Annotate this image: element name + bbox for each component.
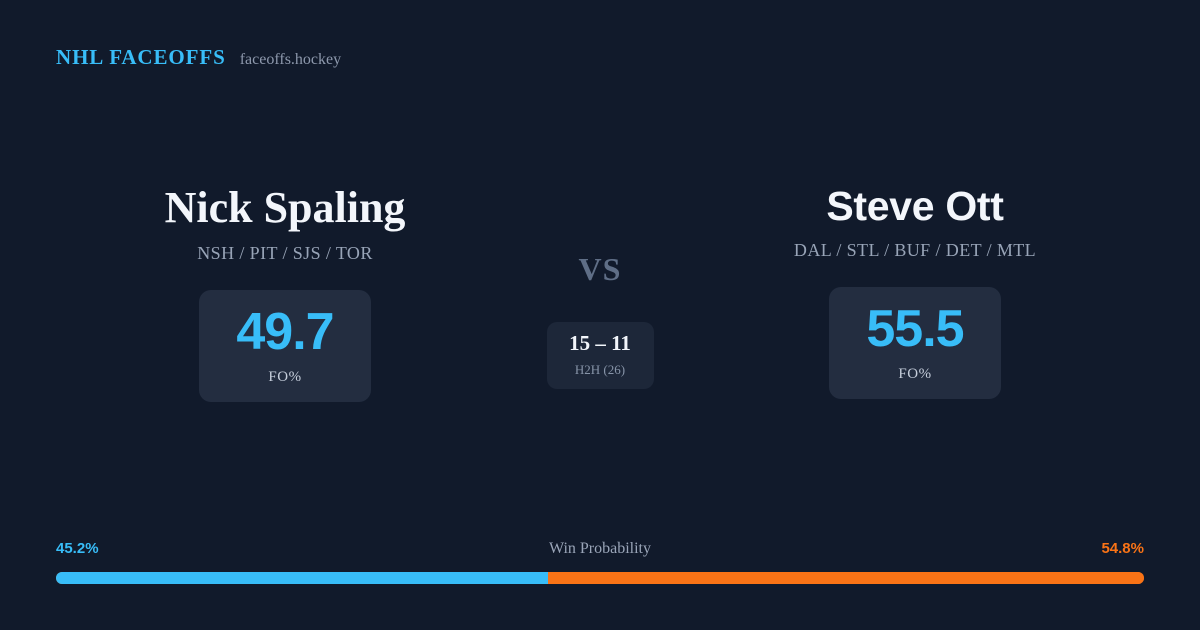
win-probability-labels: 45.2% Win Probability 54.8% [56,540,1144,560]
matchup-section: Nick Spaling NSH / PIT / SJS / TOR 49.7 … [0,185,1200,402]
player-name-right: Steve Ott [826,185,1003,228]
site-header: NHL FACEOFFS faceoffs.hockey [56,47,341,68]
stat-label-left: FO% [268,369,301,386]
stat-value-right: 55.5 [866,303,963,355]
win-probability-title: Win Probability [549,540,651,558]
head-to-head-score: 15 – 11 [569,333,631,354]
win-probability-bar [56,572,1144,584]
win-probability-bar-left [56,572,548,584]
player-teams-right: DAL / STL / BUF / DET / MTL [794,240,1036,261]
player-teams-left: NSH / PIT / SJS / TOR [197,243,372,264]
player-card-right: Steve Ott DAL / STL / BUF / DET / MTL 55… [700,185,1130,399]
win-probability-section: 45.2% Win Probability 54.8% [56,540,1144,584]
head-to-head-card: 15 – 11 H2H (26) [547,322,654,389]
stat-card-left: 49.7 FO% [199,290,371,402]
win-probability-right-value: 54.8% [1101,540,1144,557]
brand-domain: faceoffs.hockey [240,52,341,68]
stat-label-right: FO% [898,366,931,383]
versus-block: VS 15 – 11 H2H (26) [500,185,700,389]
player-card-left: Nick Spaling NSH / PIT / SJS / TOR 49.7 … [70,185,500,402]
head-to-head-label: H2H (26) [575,362,625,378]
brand-title: NHL FACEOFFS [56,47,226,68]
win-probability-left-value: 45.2% [56,540,99,557]
win-probability-bar-right [548,572,1144,584]
stat-card-right: 55.5 FO% [829,287,1001,399]
player-name-left: Nick Spaling [165,185,406,231]
versus-label: VS [579,253,622,285]
stat-value-left: 49.7 [236,306,333,358]
